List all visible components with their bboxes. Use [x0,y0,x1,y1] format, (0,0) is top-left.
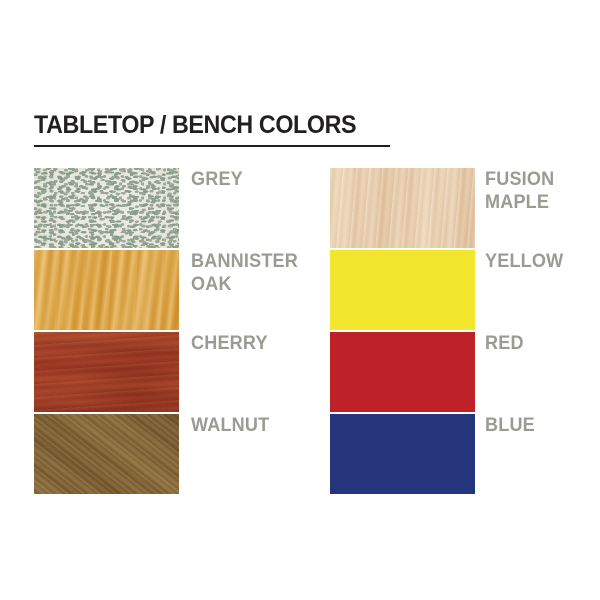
swatch-label-cherry: CHERRY [191,332,353,355]
swatch-row[interactable]: BLUE [330,414,592,494]
swatch-row[interactable]: CHERRY [34,332,300,412]
swatch-column-right: FUSION MAPLE YELLOW RED BLUE [330,168,592,496]
swatch-row[interactable]: GREY [34,168,300,248]
swatch-cherry[interactable] [34,332,179,412]
page-title: TABLETOP / BENCH COLORS [34,113,369,138]
swatch-row[interactable]: YELLOW [330,250,592,330]
swatch-yellow[interactable] [330,250,475,330]
swatch-blue[interactable] [330,414,475,494]
swatch-grey[interactable] [34,168,179,248]
swatch-label-walnut: WALNUT [191,414,353,437]
swatch-label-grey: GREY [191,168,353,191]
swatch-label-blue: BLUE [485,414,600,437]
swatch-column-left: GREY BANNISTER OAK CHERRY WALNUT [34,168,300,496]
swatch-bannister-oak[interactable] [34,250,179,330]
swatch-row[interactable]: BANNISTER OAK [34,250,300,330]
swatch-label-yellow: YELLOW [485,250,600,273]
swatch-walnut[interactable] [34,414,179,494]
swatch-label-bannister-oak: BANNISTER OAK [191,250,353,296]
color-chart-sheet: TABLETOP / BENCH COLORS GREY BANNISTER O… [0,0,600,600]
swatch-fusion-maple[interactable] [330,168,475,248]
swatch-red[interactable] [330,332,475,412]
swatch-row[interactable]: FUSION MAPLE [330,168,592,248]
swatch-label-fusion-maple: FUSION MAPLE [485,168,600,214]
swatch-label-red: RED [485,332,600,355]
title-underline-rule [34,145,390,147]
swatch-row[interactable]: RED [330,332,592,412]
title-block: TABLETOP / BENCH COLORS [34,113,394,147]
swatch-row[interactable]: WALNUT [34,414,300,494]
